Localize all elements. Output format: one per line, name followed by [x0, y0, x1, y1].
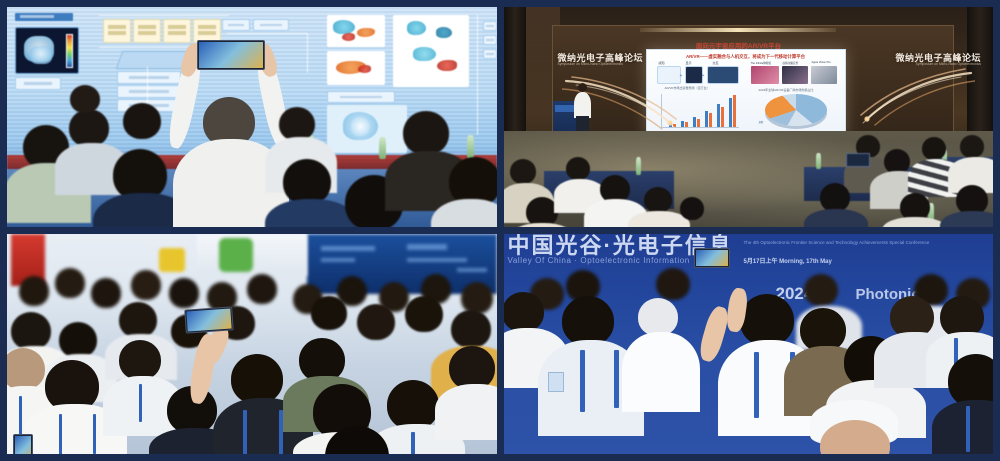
sci-image-1 [327, 15, 385, 47]
forum-audience [504, 7, 994, 227]
attendee-head-1 [7, 348, 45, 390]
phone-camera [184, 306, 234, 333]
central-attendee-head [740, 294, 794, 346]
sci-caption-label [327, 91, 395, 103]
collage-grid: 微纳光电子高峰论坛 Symposium on Micro-Nano Optoel… [0, 0, 1000, 461]
process-chip-1 [103, 19, 131, 43]
panel-audience-blue-backdrop: 中国光谷·光电子信息 Valley Of China · Optoelectro… [504, 234, 994, 454]
attendee-glasses-head [562, 296, 614, 346]
sci-image-3 [393, 15, 469, 87]
panel-audience-crowd-expo [7, 234, 497, 454]
thermal-image-panel [15, 27, 79, 74]
sci-image-4 [327, 105, 407, 153]
right-label-1 [222, 19, 250, 31]
screen-header-bar [15, 13, 73, 21]
photo-collage: 微纳光电子高峰论坛 Symposium on Micro-Nano Optoel… [0, 0, 1000, 461]
screen-side-label [15, 77, 61, 90]
panel-summit-forum-stage: 微纳光电子高峰论坛 Symposium on Micro-Nano Optoel… [504, 7, 994, 227]
flow-step-2 [117, 85, 181, 98]
sci-image-2 [327, 51, 385, 85]
process-chip-2 [133, 19, 161, 43]
panel-exhibition-hall-big-screen [7, 7, 497, 227]
phone-camera [694, 248, 730, 268]
central-attendee-head [231, 354, 283, 404]
flow-step-1 [117, 71, 181, 84]
right-label-2 [253, 19, 289, 31]
phone-in-hand [13, 434, 33, 454]
process-chip-3 [163, 19, 191, 43]
phone-camera [197, 40, 265, 70]
